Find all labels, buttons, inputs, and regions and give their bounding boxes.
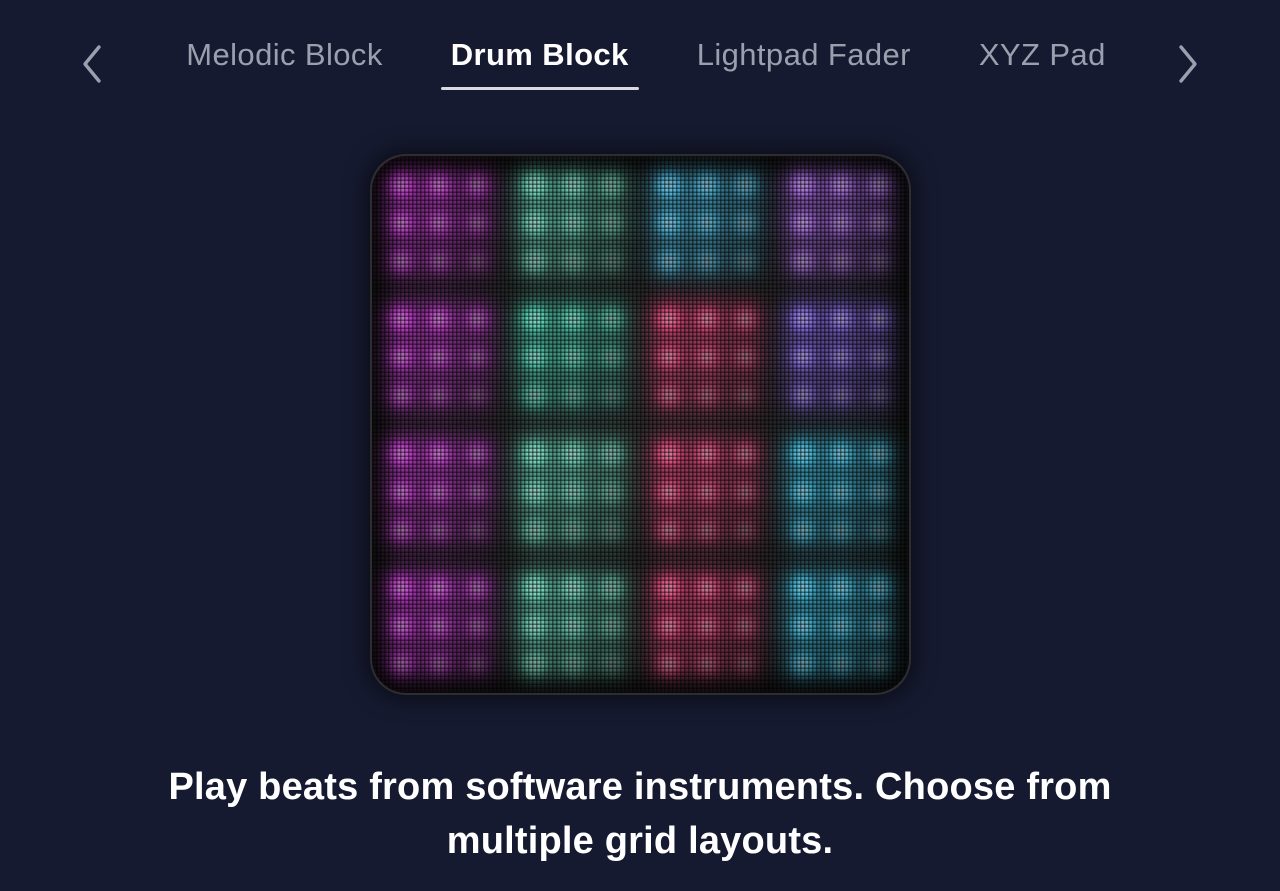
led-cell	[650, 338, 688, 376]
led	[692, 477, 722, 507]
led	[462, 342, 492, 372]
led	[730, 170, 760, 200]
led-cell	[860, 645, 898, 683]
led	[462, 515, 492, 545]
led	[692, 515, 722, 545]
led-cell	[458, 242, 496, 280]
led-cell	[516, 569, 554, 607]
led-cell	[516, 435, 554, 473]
pad-led-array	[372, 156, 506, 290]
pad-led-array	[774, 290, 908, 424]
led-cell	[822, 435, 860, 473]
led-cell	[860, 242, 898, 280]
led	[462, 439, 492, 469]
pad[interactable]	[506, 425, 640, 559]
led-cell	[650, 607, 688, 645]
led	[558, 611, 588, 641]
led	[462, 611, 492, 641]
led	[596, 170, 626, 200]
led	[462, 246, 492, 276]
led-cell	[382, 338, 420, 376]
led	[386, 439, 416, 469]
led-cell	[784, 473, 822, 511]
pad[interactable]	[774, 156, 908, 290]
led-cell	[382, 242, 420, 280]
led-cell	[784, 242, 822, 280]
tab-lightpad-fader[interactable]: Lightpad Fader	[663, 36, 945, 90]
pad-led-array	[774, 559, 908, 693]
led-cell	[592, 473, 630, 511]
pad[interactable]	[372, 156, 506, 290]
pad[interactable]	[506, 290, 640, 424]
led-cell	[458, 607, 496, 645]
led	[596, 649, 626, 679]
led-cell	[420, 204, 458, 242]
led-cell	[726, 473, 764, 511]
led	[558, 573, 588, 603]
led-cell	[860, 204, 898, 242]
led	[386, 170, 416, 200]
led-cell	[458, 569, 496, 607]
led-cell	[822, 607, 860, 645]
led	[596, 304, 626, 334]
led	[520, 439, 550, 469]
led	[864, 611, 894, 641]
led-cell	[592, 607, 630, 645]
device-stage	[0, 156, 1280, 696]
led-cell	[688, 645, 726, 683]
led-cell	[554, 607, 592, 645]
led	[826, 342, 856, 372]
led-cell	[554, 166, 592, 204]
led-cell	[554, 204, 592, 242]
led-cell	[554, 473, 592, 511]
led-cell	[860, 435, 898, 473]
led	[386, 342, 416, 372]
led-cell	[516, 473, 554, 511]
led	[520, 208, 550, 238]
led-cell	[726, 607, 764, 645]
led-cell	[784, 435, 822, 473]
led	[520, 170, 550, 200]
caption-text: Play beats from software instruments. Ch…	[95, 760, 1185, 868]
led	[462, 380, 492, 410]
led-cell	[822, 242, 860, 280]
led-cell	[516, 607, 554, 645]
led-cell	[784, 376, 822, 414]
chevron-left-icon	[79, 43, 105, 85]
pad-led-array	[640, 559, 774, 693]
led-cell	[382, 511, 420, 549]
led-cell	[458, 511, 496, 549]
led-cell	[592, 435, 630, 473]
led	[864, 342, 894, 372]
led	[730, 649, 760, 679]
led	[864, 170, 894, 200]
led	[424, 208, 454, 238]
led	[654, 246, 684, 276]
led	[654, 304, 684, 334]
led	[558, 304, 588, 334]
led	[558, 246, 588, 276]
led-cell	[592, 166, 630, 204]
led-cell	[650, 242, 688, 280]
led	[654, 380, 684, 410]
led-cell	[726, 300, 764, 338]
drum-block-device[interactable]	[372, 156, 909, 693]
led	[730, 380, 760, 410]
led	[692, 170, 722, 200]
led-cell	[420, 569, 458, 607]
led	[558, 649, 588, 679]
led-cell	[382, 300, 420, 338]
led	[386, 573, 416, 603]
led	[730, 573, 760, 603]
led-cell	[726, 376, 764, 414]
led	[730, 304, 760, 334]
led-cell	[516, 242, 554, 280]
led	[424, 573, 454, 603]
led-cell	[784, 166, 822, 204]
led-cell	[726, 569, 764, 607]
led	[654, 170, 684, 200]
led	[462, 477, 492, 507]
tab-drum-block[interactable]: Drum Block	[417, 36, 663, 90]
pad[interactable]	[640, 156, 774, 290]
led	[826, 246, 856, 276]
led	[788, 170, 818, 200]
led-cell	[650, 166, 688, 204]
led-cell	[650, 511, 688, 549]
led-cell	[382, 645, 420, 683]
pad-led-array	[372, 559, 506, 693]
led-cell	[592, 645, 630, 683]
led-cell	[458, 166, 496, 204]
led-cell	[822, 204, 860, 242]
led-cell	[592, 569, 630, 607]
led	[788, 304, 818, 334]
led	[424, 380, 454, 410]
led	[826, 649, 856, 679]
led	[520, 611, 550, 641]
led-cell	[650, 376, 688, 414]
led-cell	[554, 435, 592, 473]
led-cell	[420, 300, 458, 338]
led	[730, 515, 760, 545]
led	[788, 208, 818, 238]
led	[730, 439, 760, 469]
led-cell	[822, 376, 860, 414]
pad-led-array	[506, 425, 640, 559]
led-cell	[382, 435, 420, 473]
led	[692, 342, 722, 372]
led-cell	[688, 166, 726, 204]
led	[424, 611, 454, 641]
led	[730, 611, 760, 641]
led	[826, 380, 856, 410]
led-cell	[860, 338, 898, 376]
led	[386, 208, 416, 238]
led-cell	[420, 473, 458, 511]
tab-label: XYZ Pad	[979, 37, 1106, 72]
led	[558, 380, 588, 410]
led	[596, 515, 626, 545]
led	[654, 477, 684, 507]
led-cell	[650, 645, 688, 683]
tab-label: Melodic Block	[186, 37, 382, 72]
led	[462, 573, 492, 603]
led-cell	[860, 511, 898, 549]
led-cell	[822, 511, 860, 549]
led-cell	[554, 645, 592, 683]
led-cell	[554, 569, 592, 607]
tab-melodic-block[interactable]: Melodic Block	[152, 36, 416, 90]
led-cell	[420, 607, 458, 645]
led-cell	[458, 473, 496, 511]
led	[864, 208, 894, 238]
pad-grid	[372, 156, 909, 693]
led	[788, 611, 818, 641]
led-cell	[688, 338, 726, 376]
tab-xyz-pad[interactable]: XYZ Pad	[945, 36, 1140, 90]
led-cell	[784, 607, 822, 645]
led-cell	[822, 300, 860, 338]
tab-label: Lightpad Fader	[697, 37, 911, 72]
led	[788, 246, 818, 276]
pad-led-array	[774, 425, 908, 559]
led	[654, 515, 684, 545]
led	[596, 477, 626, 507]
led	[424, 439, 454, 469]
led	[558, 439, 588, 469]
led-cell	[592, 300, 630, 338]
led	[558, 208, 588, 238]
led	[424, 246, 454, 276]
led-cell	[420, 435, 458, 473]
led-cell	[554, 242, 592, 280]
led-cell	[784, 645, 822, 683]
led	[692, 439, 722, 469]
pad[interactable]	[506, 559, 640, 693]
led-cell	[382, 166, 420, 204]
led	[692, 573, 722, 603]
led	[654, 439, 684, 469]
led-cell	[822, 338, 860, 376]
led	[826, 304, 856, 334]
led	[386, 611, 416, 641]
led-cell	[420, 166, 458, 204]
led	[730, 477, 760, 507]
led-cell	[382, 473, 420, 511]
led	[864, 246, 894, 276]
led	[424, 515, 454, 545]
led-cell	[860, 569, 898, 607]
led-cell	[650, 569, 688, 607]
led	[424, 304, 454, 334]
led	[692, 304, 722, 334]
led-cell	[688, 300, 726, 338]
led	[864, 477, 894, 507]
led-cell	[650, 300, 688, 338]
led	[386, 515, 416, 545]
led-cell	[458, 376, 496, 414]
led-cell	[592, 511, 630, 549]
led-cell	[420, 645, 458, 683]
led-cell	[516, 645, 554, 683]
led	[692, 611, 722, 641]
pad-led-array	[372, 290, 506, 424]
led	[520, 477, 550, 507]
led-cell	[688, 511, 726, 549]
led-cell	[516, 338, 554, 376]
pad[interactable]	[372, 290, 506, 424]
led-cell	[860, 300, 898, 338]
led	[826, 439, 856, 469]
led-cell	[458, 435, 496, 473]
led	[386, 304, 416, 334]
led-cell	[516, 166, 554, 204]
led-cell	[822, 166, 860, 204]
led	[424, 342, 454, 372]
led-cell	[382, 204, 420, 242]
led	[692, 208, 722, 238]
led	[520, 380, 550, 410]
led	[654, 208, 684, 238]
led	[596, 246, 626, 276]
led-cell	[822, 569, 860, 607]
led-cell	[458, 645, 496, 683]
led-cell	[784, 300, 822, 338]
led-cell	[688, 242, 726, 280]
led	[596, 439, 626, 469]
pad-led-array	[506, 156, 640, 290]
led-cell	[784, 204, 822, 242]
led	[462, 304, 492, 334]
led-cell	[726, 645, 764, 683]
led	[424, 170, 454, 200]
led	[558, 477, 588, 507]
led	[520, 515, 550, 545]
pad[interactable]	[372, 559, 506, 693]
led-cell	[822, 473, 860, 511]
led-cell	[688, 473, 726, 511]
led	[788, 649, 818, 679]
led	[520, 649, 550, 679]
tab-bar: Melodic Block Drum Block Lightpad Fader …	[0, 0, 1280, 128]
led	[692, 246, 722, 276]
led	[730, 246, 760, 276]
led	[386, 246, 416, 276]
led-cell	[458, 338, 496, 376]
led	[864, 380, 894, 410]
led-cell	[554, 338, 592, 376]
led	[654, 649, 684, 679]
led-cell	[382, 607, 420, 645]
led	[462, 649, 492, 679]
led	[596, 380, 626, 410]
led-cell	[860, 473, 898, 511]
led	[826, 170, 856, 200]
pad[interactable]	[774, 290, 908, 424]
led-cell	[726, 242, 764, 280]
led-cell	[688, 607, 726, 645]
led	[788, 439, 818, 469]
led	[520, 246, 550, 276]
led	[558, 342, 588, 372]
led	[558, 170, 588, 200]
pad-led-array	[640, 156, 774, 290]
led	[692, 649, 722, 679]
led	[692, 380, 722, 410]
pad[interactable]	[774, 425, 908, 559]
led	[826, 477, 856, 507]
pad-led-array	[506, 559, 640, 693]
pad-led-array	[774, 156, 908, 290]
led-cell	[554, 511, 592, 549]
led-cell	[592, 376, 630, 414]
led-cell	[420, 338, 458, 376]
led-cell	[382, 569, 420, 607]
next-tab-button[interactable]	[1160, 36, 1216, 92]
led-cell	[650, 473, 688, 511]
led-cell	[554, 300, 592, 338]
led	[386, 477, 416, 507]
led	[654, 611, 684, 641]
pad[interactable]	[640, 425, 774, 559]
led	[788, 380, 818, 410]
led-cell	[822, 645, 860, 683]
led	[386, 649, 416, 679]
led-cell	[420, 511, 458, 549]
led-cell	[726, 435, 764, 473]
led	[520, 573, 550, 603]
led-cell	[860, 376, 898, 414]
pad-led-array	[640, 425, 774, 559]
pad[interactable]	[640, 559, 774, 693]
led-cell	[860, 166, 898, 204]
led	[520, 304, 550, 334]
pad[interactable]	[640, 290, 774, 424]
pad[interactable]	[506, 156, 640, 290]
pad[interactable]	[774, 559, 908, 693]
led	[424, 649, 454, 679]
led-cell	[592, 338, 630, 376]
led-cell	[726, 511, 764, 549]
led	[826, 611, 856, 641]
tab-label: Drum Block	[451, 37, 629, 72]
led	[596, 611, 626, 641]
led-cell	[420, 376, 458, 414]
led	[462, 208, 492, 238]
pad-led-array	[506, 290, 640, 424]
pad-led-array	[640, 290, 774, 424]
pad-led-array	[372, 425, 506, 559]
led-cell	[382, 376, 420, 414]
led-cell	[688, 569, 726, 607]
tab-active-underline	[441, 87, 639, 90]
led-cell	[458, 300, 496, 338]
led-cell	[650, 204, 688, 242]
prev-tab-button[interactable]	[64, 36, 120, 92]
led	[788, 515, 818, 545]
led	[864, 515, 894, 545]
led	[386, 380, 416, 410]
led	[864, 649, 894, 679]
pad[interactable]	[372, 425, 506, 559]
led	[730, 342, 760, 372]
led	[864, 439, 894, 469]
led-cell	[420, 242, 458, 280]
